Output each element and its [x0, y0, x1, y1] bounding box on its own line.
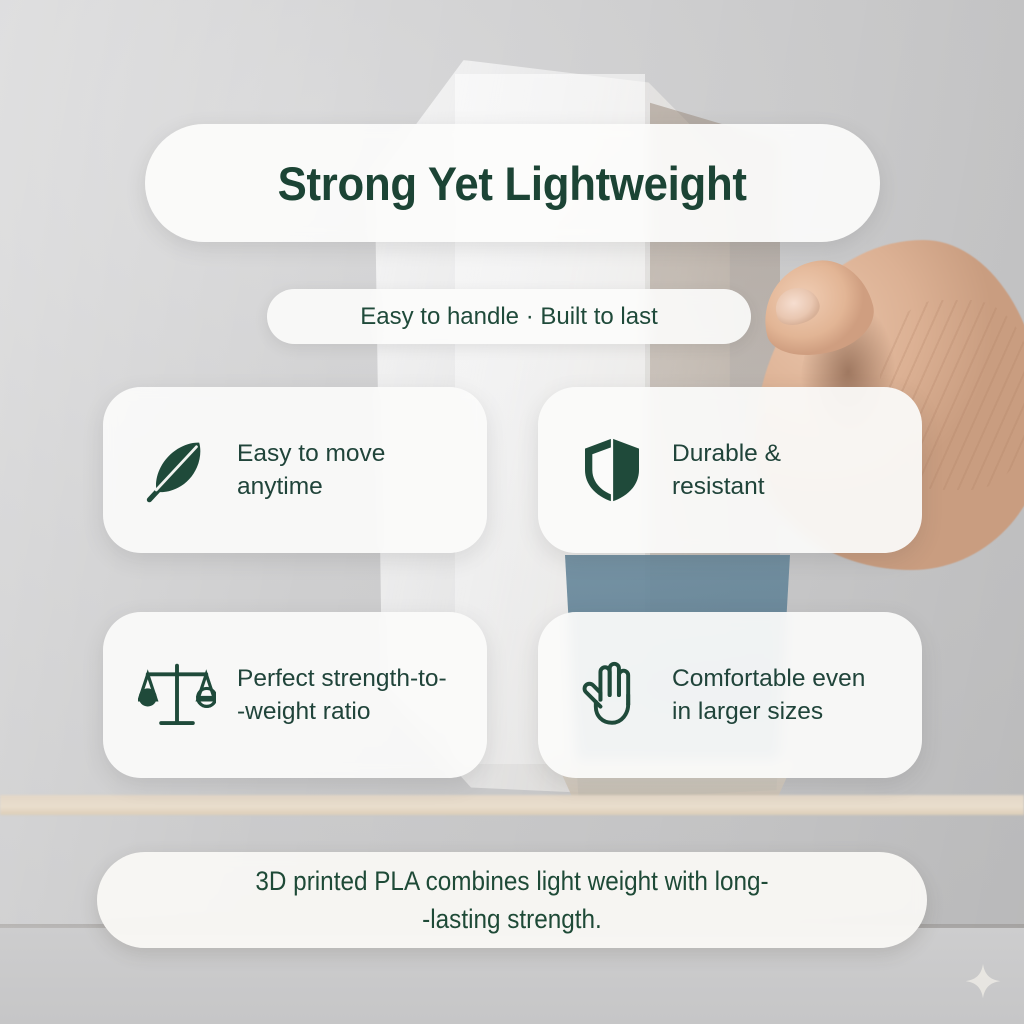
feature-card-easy-to-move[interactable]: Easy to move anytime [103, 387, 487, 553]
feature-card-comfortable[interactable]: Comfortable even in larger sizes [538, 612, 922, 778]
feature-label: Durable & resistant [672, 437, 781, 504]
feature-label-line2: anytime [237, 473, 323, 500]
feature-card-durable[interactable]: Durable & resistant [538, 387, 922, 553]
footer-text-line1: 3D printed PLA combines light weight wit… [255, 866, 768, 896]
feature-label-line1: Durable & [672, 440, 781, 467]
balance-scale-icon [129, 647, 225, 743]
footer-text: 3D printed PLA combines light weight wit… [139, 862, 886, 939]
footer-text-line2: -lasting strength. [422, 904, 602, 934]
feature-label-line1: Comfortable even [672, 665, 865, 692]
feature-label: Perfect strength-to- -weight ratio [237, 662, 447, 729]
feature-label-line2: -weight ratio [237, 698, 370, 725]
feature-label-line1: Easy to move [237, 440, 385, 467]
title-pill: Strong Yet Lightweight [145, 124, 880, 242]
feature-label-line1: Perfect strength-to- [237, 665, 447, 692]
feature-card-strength-to-weight[interactable]: Perfect strength-to- -weight ratio [103, 612, 487, 778]
open-hand-icon [564, 647, 660, 743]
page-subtitle: Easy to handle · Built to last [360, 303, 658, 331]
feature-label: Comfortable even in larger sizes [672, 662, 865, 729]
feature-label-line2: in larger sizes [672, 698, 823, 725]
sparkle-icon [960, 960, 1006, 1006]
feature-label: Easy to move anytime [237, 437, 385, 504]
shield-icon [564, 422, 660, 518]
infographic-canvas: Strong Yet Lightweight Easy to handle · … [0, 0, 1024, 1024]
feature-label-line2: resistant [672, 473, 765, 500]
footer-pill: 3D printed PLA combines light weight wit… [97, 852, 927, 948]
page-title: Strong Yet Lightweight [278, 156, 747, 211]
subtitle-pill: Easy to handle · Built to last [267, 289, 751, 344]
feather-icon [129, 422, 225, 518]
